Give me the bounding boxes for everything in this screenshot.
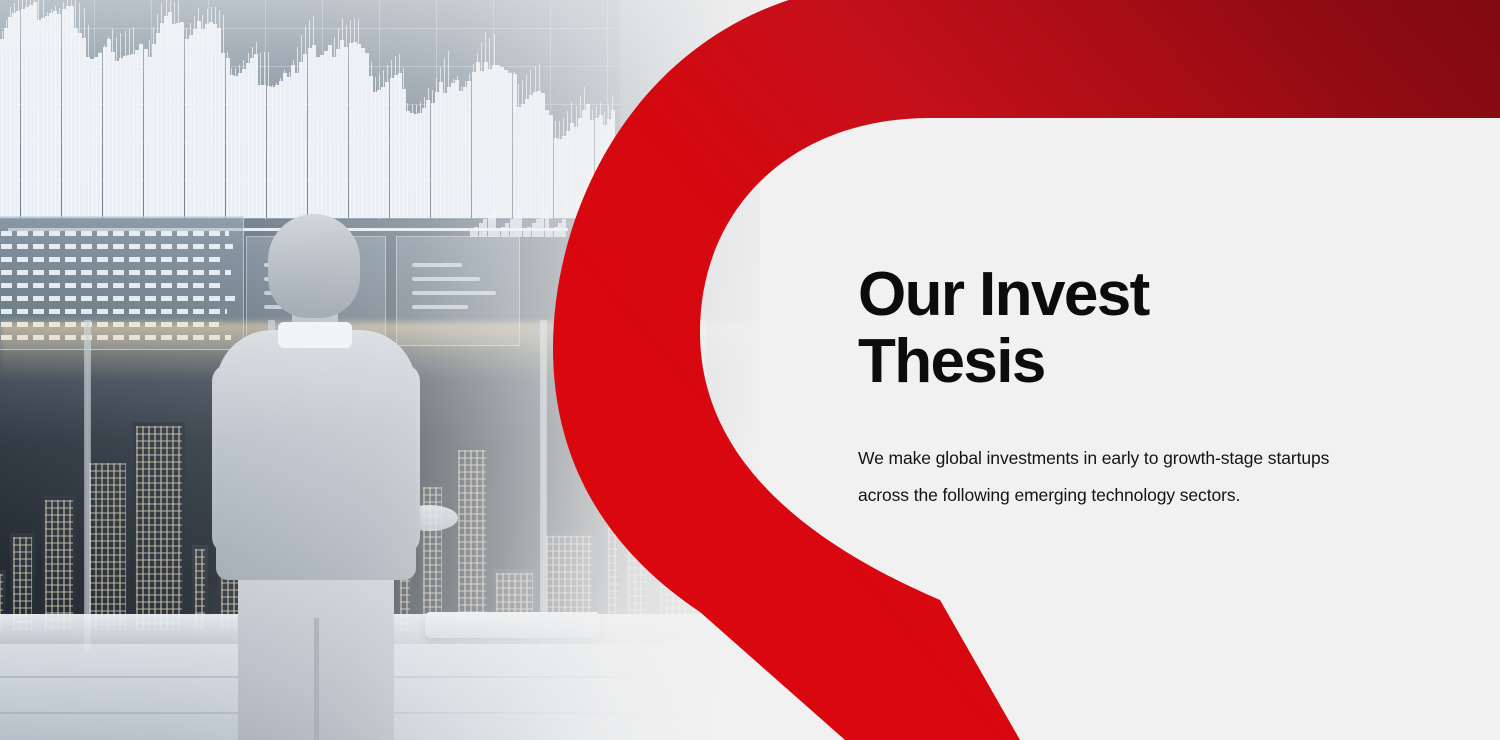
photo-top-fade-overlay <box>0 0 760 740</box>
hero-photo <box>0 0 760 740</box>
content-block: Our Invest Thesis We make global investm… <box>858 262 1418 513</box>
subcopy-text: We make global investments in early to g… <box>858 440 1358 514</box>
slide-root: Our Invest Thesis We make global investm… <box>0 0 1500 740</box>
page-title: Our Invest Thesis <box>858 262 1418 396</box>
